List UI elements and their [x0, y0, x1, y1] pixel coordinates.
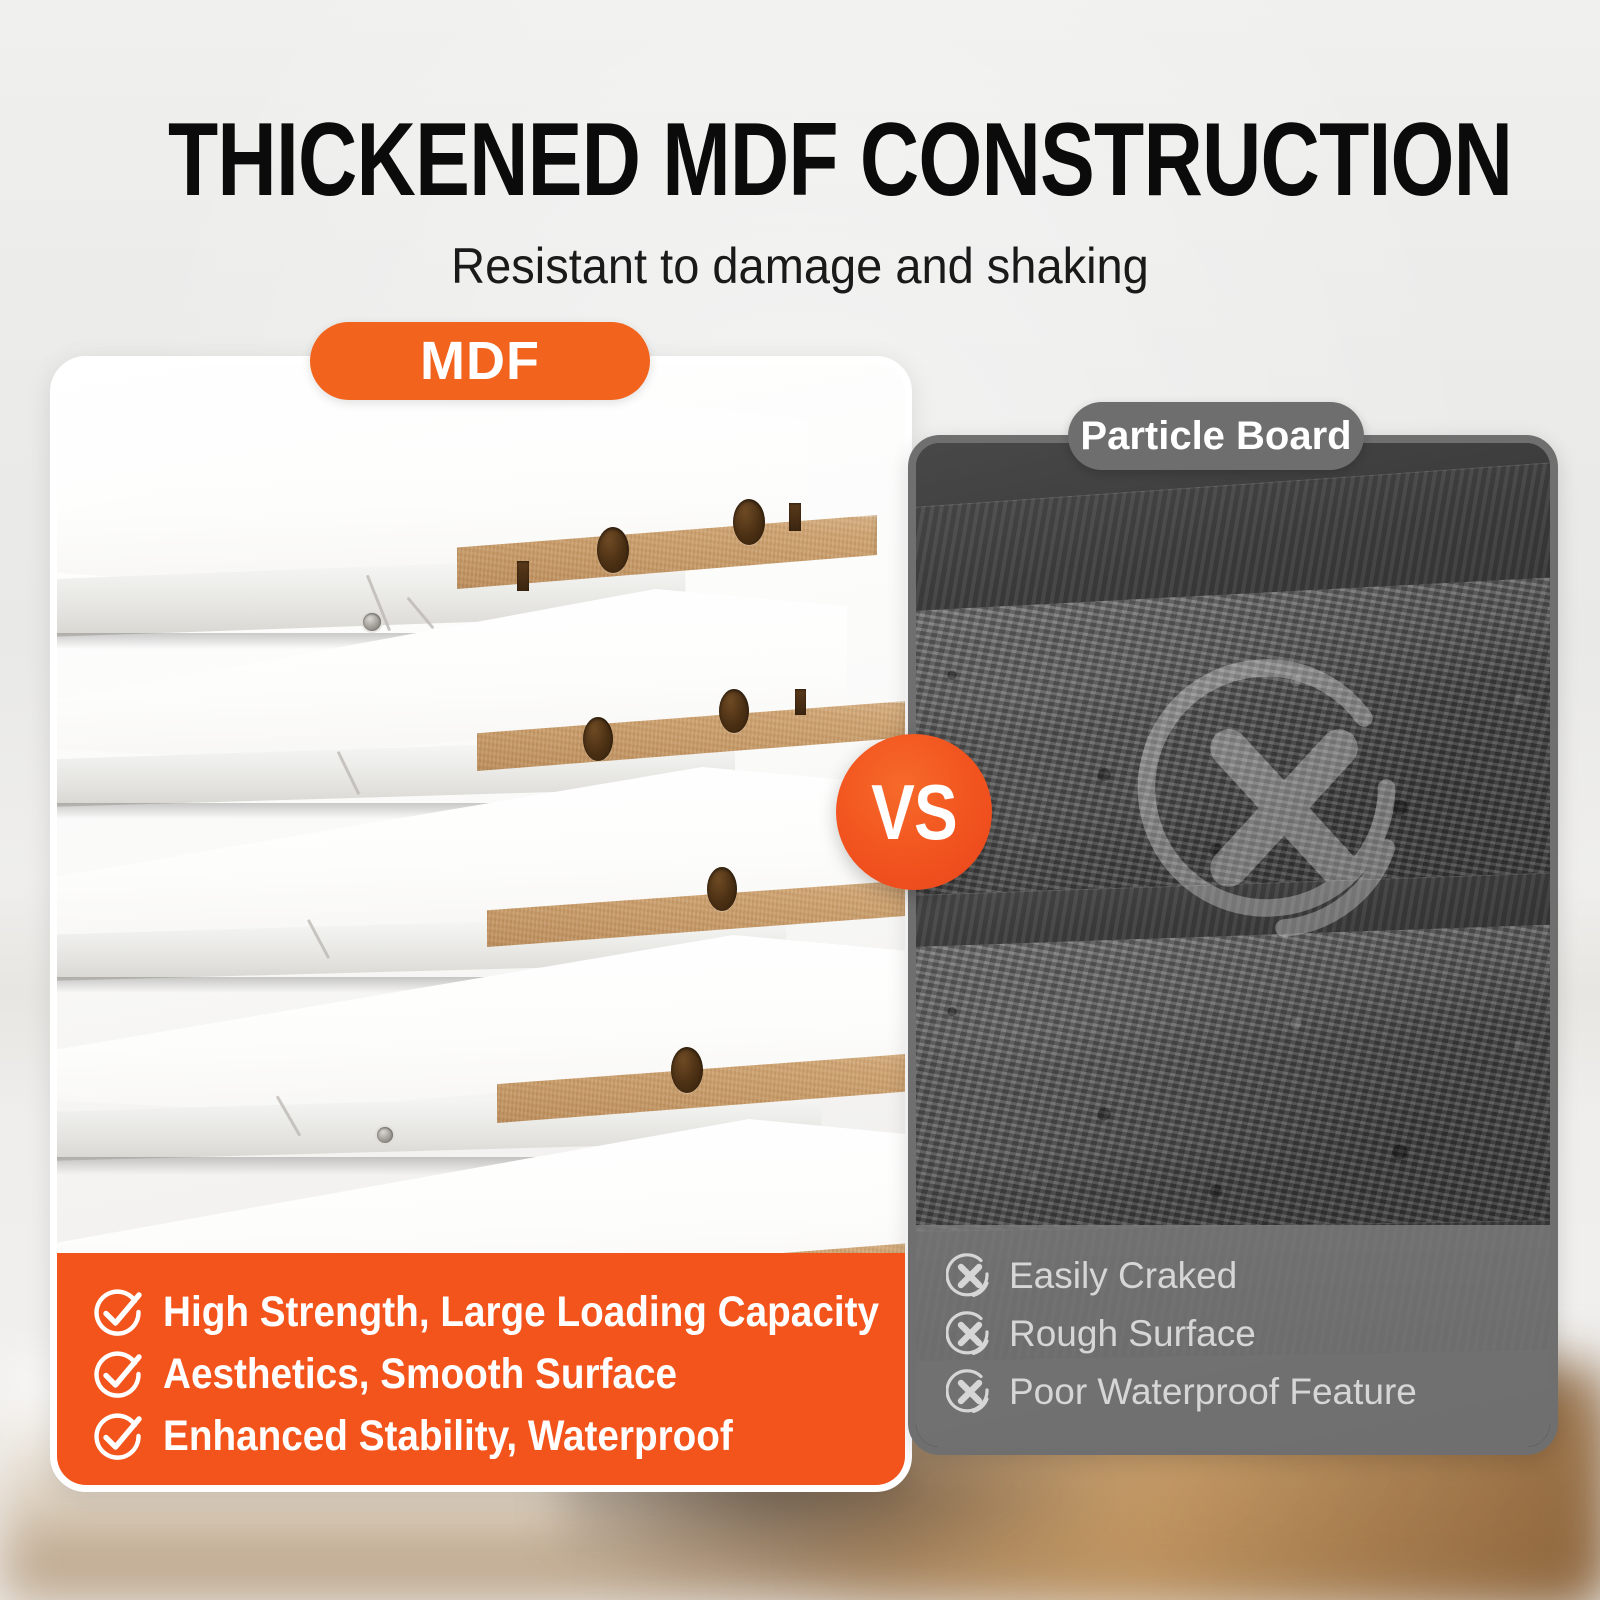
- x-circle-icon: [946, 1310, 994, 1358]
- vs-label: VS: [871, 773, 957, 851]
- mdf-label-pill: MDF: [310, 322, 650, 400]
- particle-board-label-pill: Particle Board: [1068, 402, 1364, 470]
- x-circle-watermark-icon: [1134, 658, 1434, 958]
- benefit-item: Enhanced Stability, Waterproof: [91, 1405, 905, 1467]
- drawback-item: Poor Waterproof Feature: [946, 1363, 1550, 1421]
- header: THICKENED MDF CONSTRUCTION Resistant to …: [0, 0, 1600, 294]
- benefit-label: Aesthetics, Smooth Surface: [163, 1350, 677, 1399]
- dowel-hole: [719, 689, 749, 733]
- cam-slot: [795, 689, 806, 715]
- page-subtitle: Resistant to damage and shaking: [48, 212, 1552, 294]
- vs-badge: VS: [836, 734, 992, 890]
- dowel-hole: [671, 1047, 703, 1093]
- mdf-board-4: [57, 935, 905, 1145]
- mdf-pill-text: MDF: [420, 330, 540, 392]
- mdf-board-1: [57, 397, 807, 607]
- check-circle-icon: [91, 1347, 145, 1401]
- dowel-hole: [733, 499, 765, 545]
- particle-board-pill-text: Particle Board: [1080, 414, 1351, 459]
- drawback-label: Rough Surface: [1009, 1313, 1256, 1355]
- particle-board-drawbacks-panel: Easily Craked Rough Surface Poor Waterpr…: [916, 1225, 1550, 1447]
- drawback-item: Rough Surface: [946, 1305, 1550, 1363]
- check-circle-icon: [91, 1285, 145, 1339]
- benefit-label: Enhanced Stability, Waterproof: [163, 1412, 733, 1461]
- drawback-label: Poor Waterproof Feature: [1009, 1371, 1417, 1413]
- benefit-item: High Strength, Large Loading Capacity: [91, 1281, 905, 1343]
- x-circle-icon: [946, 1252, 994, 1300]
- drawback-label: Easily Craked: [1009, 1255, 1237, 1297]
- mdf-board-2: [57, 589, 847, 789]
- dowel-hole: [583, 717, 613, 761]
- mdf-benefits-panel: High Strength, Large Loading Capacity Ae…: [57, 1253, 905, 1485]
- dowel-hole: [707, 867, 737, 911]
- dowel-hole: [597, 527, 629, 573]
- mdf-comparison-card: High Strength, Large Loading Capacity Ae…: [50, 356, 912, 1492]
- x-circle-icon: [946, 1368, 994, 1416]
- drawback-item: Easily Craked: [946, 1247, 1550, 1305]
- benefit-item: Aesthetics, Smooth Surface: [91, 1343, 905, 1405]
- particle-board-lower-slab: [916, 921, 1550, 1249]
- check-circle-icon: [91, 1409, 145, 1463]
- benefit-label: High Strength, Large Loading Capacity: [163, 1288, 879, 1337]
- cam-slot: [789, 503, 801, 531]
- cam-slot: [517, 561, 529, 591]
- page-title: THICKENED MDF CONSTRUCTION: [168, 0, 1432, 212]
- particle-board-comparison-card: Easily Craked Rough Surface Poor Waterpr…: [908, 435, 1558, 1455]
